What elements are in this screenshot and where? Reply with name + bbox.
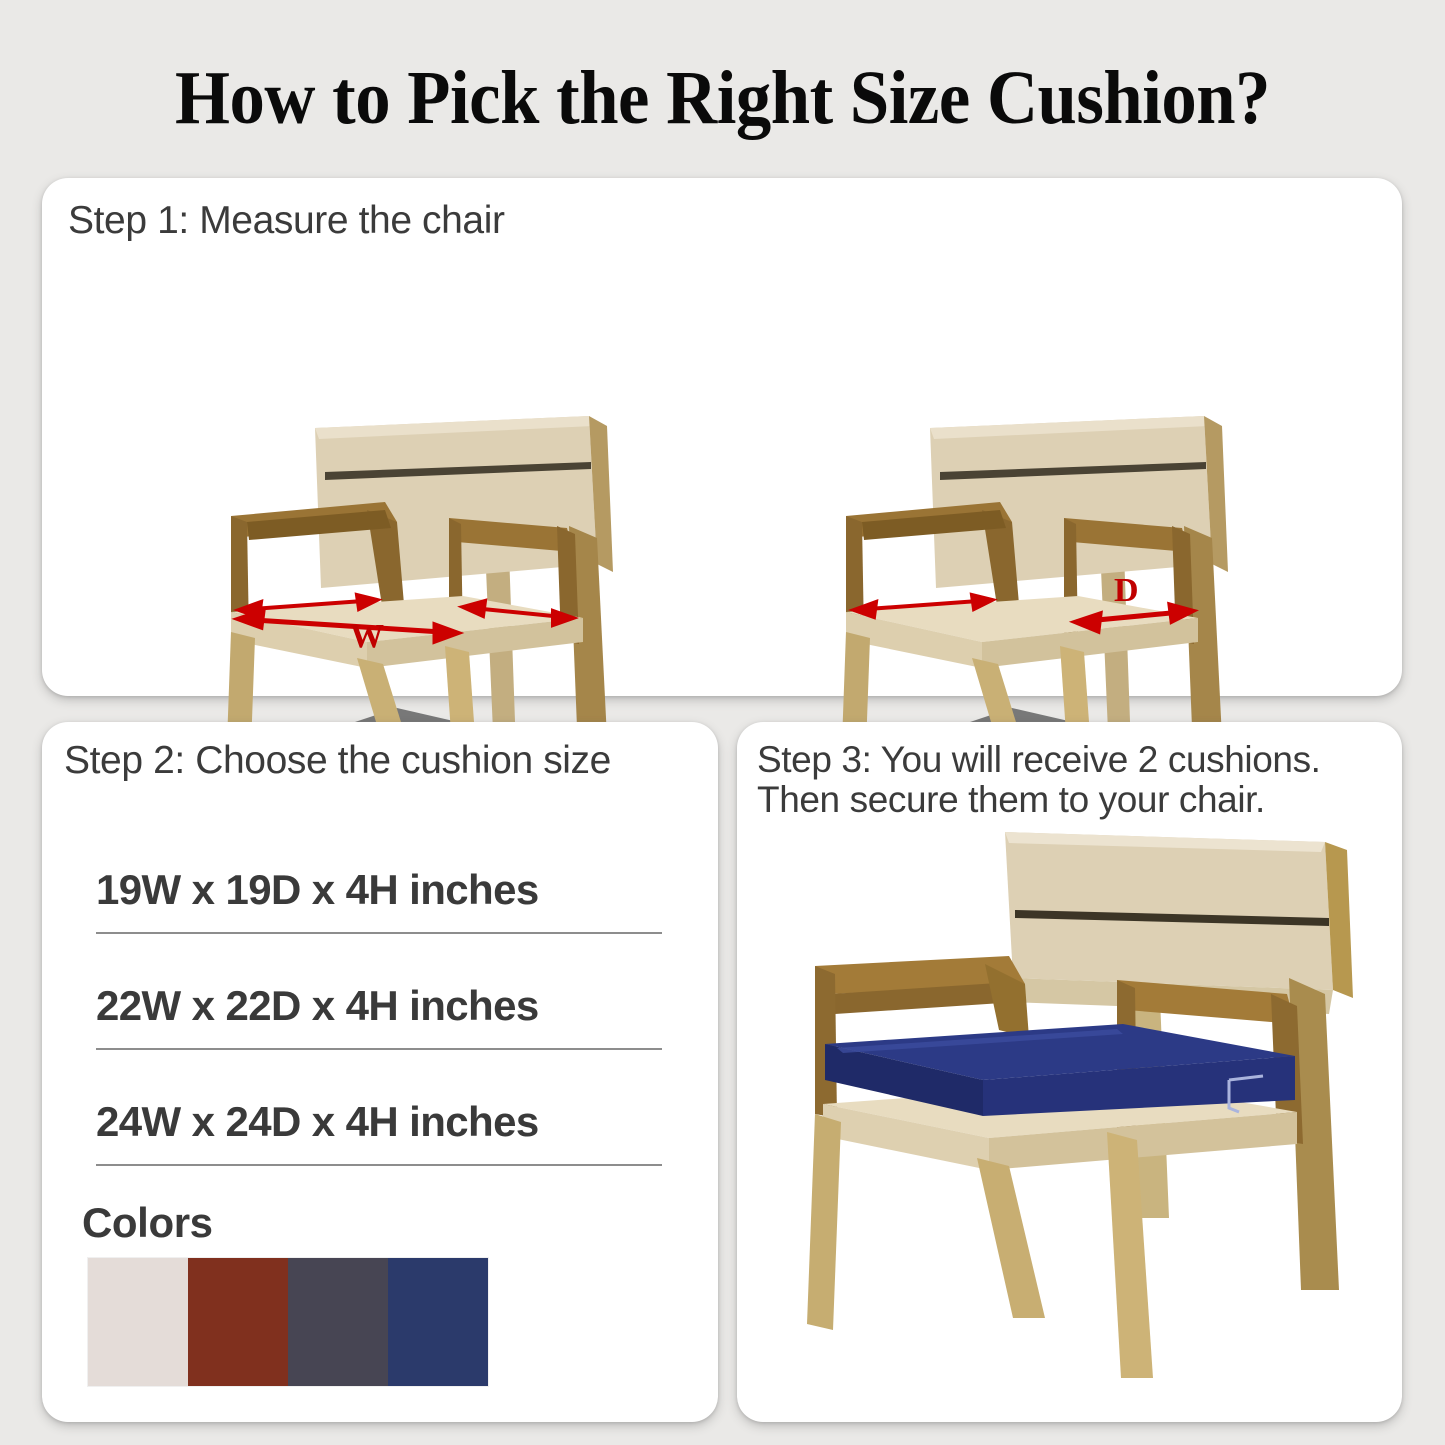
colors-heading: Colors <box>82 1199 213 1247</box>
depth-measure-label: D <box>1114 574 1139 608</box>
size-option-label: 24W x 24D x 4H inches <box>96 1098 539 1146</box>
panel-step-1: Step 1: Measure the chair <box>42 178 1402 696</box>
color-swatch-strip <box>88 1258 488 1386</box>
chair-svg-cushion <box>777 818 1377 1408</box>
size-divider <box>96 932 662 934</box>
width-measure-label: W <box>350 620 384 654</box>
step-2-heading: Step 2: Choose the cushion size <box>64 740 611 782</box>
panel-step-3: Step 3: You will receive 2 cushions. The… <box>737 722 1402 1422</box>
size-option-label: 22W x 22D x 4H inches <box>96 982 539 1030</box>
chair-leg-front-left <box>807 1114 841 1330</box>
size-divider <box>96 1048 662 1050</box>
color-swatch-rust-red[interactable] <box>188 1258 288 1386</box>
chair-illustration-with-cushion <box>777 818 1377 1408</box>
chair-leg-center <box>977 1158 1045 1318</box>
color-swatch-dark-slate[interactable] <box>288 1258 388 1386</box>
color-swatch-beige[interactable] <box>88 1258 188 1386</box>
size-option-2[interactable]: 22W x 22D x 4H inches <box>96 982 664 1098</box>
page-title: How to Pick the Right Size Cushion? <box>51 55 1395 142</box>
cushion-size-list: 19W x 19D x 4H inches 22W x 22D x 4H inc… <box>96 866 664 1214</box>
step-1-heading: Step 1: Measure the chair <box>68 200 505 242</box>
size-divider <box>96 1164 662 1166</box>
size-option-label: 19W x 19D x 4H inches <box>96 866 539 914</box>
size-option-1[interactable]: 19W x 19D x 4H inches <box>96 866 664 982</box>
infographic-canvas: How to Pick the Right Size Cushion? Step… <box>0 0 1445 1445</box>
size-option-3[interactable]: 24W x 24D x 4H inches <box>96 1098 664 1214</box>
color-swatch-navy-blue[interactable] <box>388 1258 488 1386</box>
step-3-heading: Step 3: You will receive 2 cushions. The… <box>757 740 1321 820</box>
chair-arm-left-post <box>815 966 837 1118</box>
